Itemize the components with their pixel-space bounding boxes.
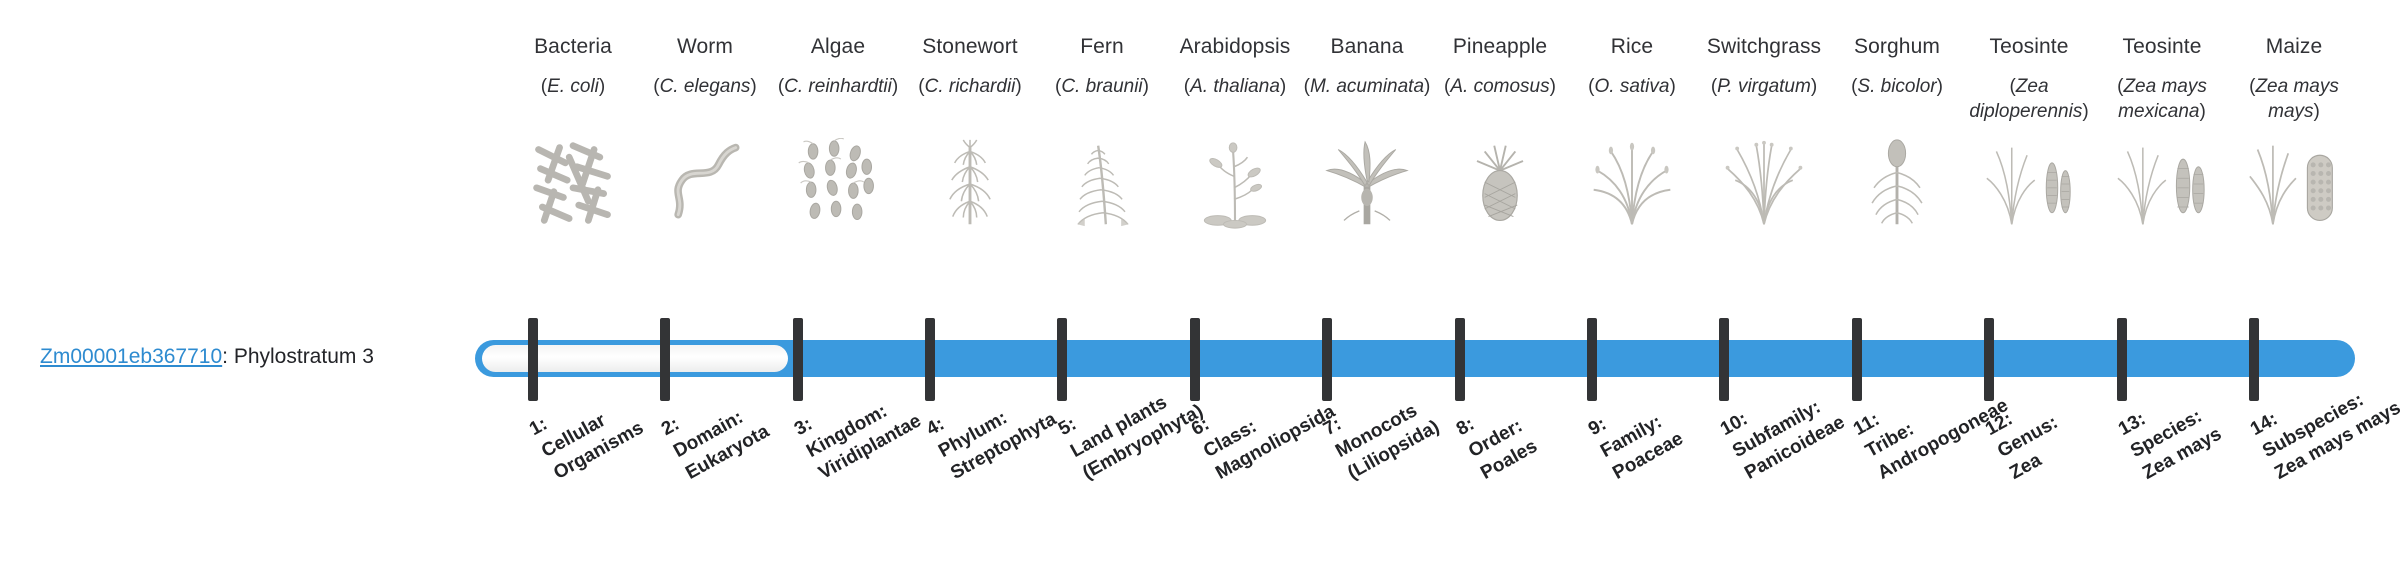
species-common-name: Fern — [1038, 34, 1166, 60]
stonewort-illustration — [922, 138, 1018, 230]
species-common-name: Rice — [1568, 34, 1696, 60]
arabidopsis-illustration — [1187, 138, 1283, 230]
species-column: Banana(M. acuminata) — [1303, 34, 1431, 99]
bacteria-illustration — [525, 138, 621, 230]
species-latin-name: (Zea mays mays) — [2230, 74, 2358, 124]
species-column: Arabidopsis(A. thaliana) — [1171, 34, 1299, 99]
species-column: Sorghum(S. bicolor) — [1833, 34, 1961, 99]
maize-illustration — [2246, 138, 2342, 230]
species-common-name: Bacteria — [509, 34, 637, 60]
species-common-name: Switchgrass — [1700, 34, 1828, 60]
species-latin-name: (C. braunii) — [1038, 74, 1166, 99]
phylostratum-figure: Bacteria(E. coli)Worm(C. elegans)Algae(C… — [0, 0, 2400, 580]
species-common-name: Arabidopsis — [1171, 34, 1299, 60]
sorghum-illustration — [1849, 138, 1945, 230]
species-latin-name: (O. sativa) — [1568, 74, 1696, 99]
gene-id-link[interactable]: Zm00001eb367710 — [40, 345, 222, 368]
fern-illustration — [1054, 138, 1150, 230]
species-common-name: Algae — [774, 34, 902, 60]
species-common-name: Maize — [2230, 34, 2358, 60]
species-column: Fern(C. braunii) — [1038, 34, 1166, 99]
species-column: Teosinte(Zea mays mexicana) — [2098, 34, 2226, 124]
species-column: Worm(C. elegans) — [641, 34, 769, 99]
species-column: Bacteria(E. coli) — [509, 34, 637, 99]
species-column: Algae(C. reinhardtii) — [774, 34, 902, 99]
species-latin-name: (C. reinhardtii) — [774, 74, 902, 99]
species-latin-name: (E. coli) — [509, 74, 637, 99]
species-common-name: Teosinte — [1965, 34, 2093, 60]
species-common-name: Teosinte — [2098, 34, 2226, 60]
algae-illustration — [790, 138, 886, 230]
gene-label: Zm00001eb367710: Phylostratum 3 — [40, 344, 374, 370]
species-latin-name: (Zea mays mexicana) — [2098, 74, 2226, 124]
switchgrass-illustration — [1716, 138, 1812, 230]
species-column: Rice(O. sativa) — [1568, 34, 1696, 99]
species-latin-name: (A. thaliana) — [1171, 74, 1299, 99]
species-column: Stonewort(C. richardii) — [906, 34, 1034, 99]
species-common-name: Stonewort — [906, 34, 1034, 60]
species-latin-name: (S. bicolor) — [1833, 74, 1961, 99]
species-common-name: Worm — [641, 34, 769, 60]
species-header-row: Bacteria(E. coli)Worm(C. elegans)Algae(C… — [0, 0, 2400, 310]
species-latin-name: (Zea diploperennis) — [1965, 74, 2093, 124]
species-column: Teosinte(Zea diploperennis) — [1965, 34, 2093, 124]
species-common-name: Pineapple — [1436, 34, 1564, 60]
species-latin-name: (C. richardii) — [906, 74, 1034, 99]
teosinte-diplo-illustration — [1981, 138, 2077, 230]
worm-illustration — [657, 138, 753, 230]
teosinte-mex-illustration — [2114, 138, 2210, 230]
species-latin-name: (C. elegans) — [641, 74, 769, 99]
species-column: Switchgrass(P. virgatum) — [1700, 34, 1828, 99]
species-latin-name: (P. virgatum) — [1700, 74, 1828, 99]
species-latin-name: (A. comosus) — [1436, 74, 1564, 99]
pineapple-illustration — [1452, 138, 1548, 230]
phylostratum-tick[interactable] — [528, 318, 538, 401]
species-common-name: Banana — [1303, 34, 1431, 60]
species-latin-name: (M. acuminata) — [1303, 74, 1431, 99]
banana-illustration — [1319, 138, 1415, 230]
species-common-name: Sorghum — [1833, 34, 1961, 60]
gene-label-text: : Phylostratum 3 — [222, 345, 374, 368]
species-column: Maize(Zea mays mays) — [2230, 34, 2358, 124]
species-column: Pineapple(A. comosus) — [1436, 34, 1564, 99]
rice-illustration — [1584, 138, 1680, 230]
